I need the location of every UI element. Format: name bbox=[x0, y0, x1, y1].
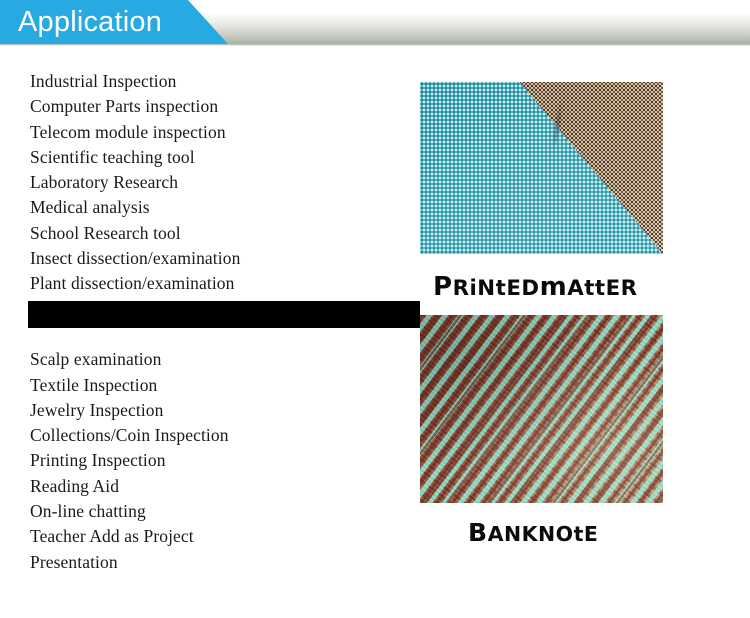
caption-char: E bbox=[506, 276, 521, 301]
list-item: Computer Parts inspection bbox=[30, 94, 410, 119]
caption-char: t bbox=[584, 276, 595, 301]
caption-char: K bbox=[522, 522, 538, 546]
list-item: Teacher Add as Project bbox=[30, 524, 410, 549]
list-item: On-line chatting bbox=[30, 499, 410, 524]
caption-char: O bbox=[556, 522, 574, 546]
printed-matter-image bbox=[420, 82, 663, 254]
caption-char: B bbox=[468, 518, 488, 547]
banknote-shading bbox=[420, 315, 663, 503]
list-item: Presentation bbox=[30, 550, 410, 575]
caption-char: m bbox=[540, 272, 568, 302]
list-item: Reading Aid bbox=[30, 474, 410, 499]
printed-matter-caption: PRiNtEDmAttER bbox=[433, 272, 638, 302]
page-header: Application bbox=[0, 0, 750, 47]
caption-char: E bbox=[606, 276, 621, 301]
list-item: Plant dissection/examination bbox=[30, 271, 410, 296]
list-item: Scalp examination bbox=[30, 347, 410, 372]
caption-char: R bbox=[453, 276, 470, 301]
list-item: Laboratory Research bbox=[30, 170, 410, 195]
banknote-image bbox=[420, 315, 663, 503]
caption-char: A bbox=[567, 276, 584, 301]
caption-char: N bbox=[477, 276, 495, 301]
redaction-bar bbox=[28, 301, 420, 328]
banknote-caption: BANKNOtE bbox=[468, 518, 598, 547]
caption-char: E bbox=[584, 522, 599, 546]
list-item: School Research tool bbox=[30, 221, 410, 246]
list-item: Textile Inspection bbox=[30, 373, 410, 398]
list-item: Industrial Inspection bbox=[30, 69, 410, 94]
list-item: Medical analysis bbox=[30, 195, 410, 220]
list-item: Telecom module inspection bbox=[30, 120, 410, 145]
list-item: Printing Inspection bbox=[30, 448, 410, 473]
list-item: Scientific teaching tool bbox=[30, 145, 410, 170]
caption-char: P bbox=[433, 272, 453, 302]
caption-char: t bbox=[595, 276, 606, 301]
caption-char: D bbox=[521, 276, 539, 301]
caption-char: R bbox=[621, 276, 638, 301]
list-item: Jewelry Inspection bbox=[30, 398, 410, 423]
caption-char: t bbox=[574, 522, 584, 546]
caption-char: N bbox=[504, 522, 522, 546]
list-item: Insect dissection/examination bbox=[30, 246, 410, 271]
page-title: Application bbox=[18, 2, 162, 42]
caption-char: A bbox=[488, 522, 504, 546]
caption-char: N bbox=[538, 522, 556, 546]
caption-char: t bbox=[496, 276, 507, 301]
list-item: Collections/Coin Inspection bbox=[30, 423, 410, 448]
